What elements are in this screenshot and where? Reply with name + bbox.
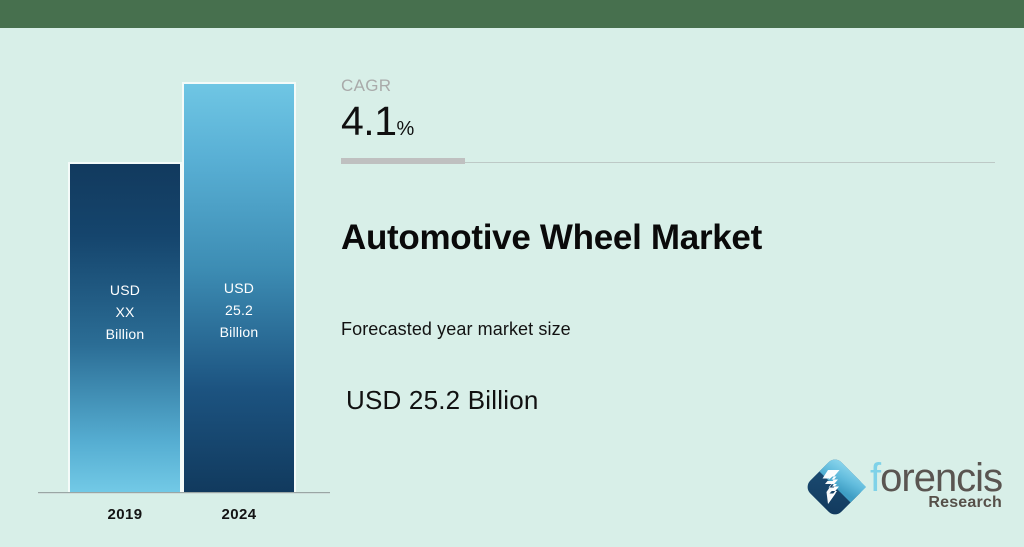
bar-2019-value: XX <box>70 301 180 323</box>
bar-2019: USD XX Billion <box>68 162 182 492</box>
bar-2019-unit: Billion <box>70 323 180 345</box>
brand-logo[interactable]: forencis Research <box>804 452 1004 522</box>
section-divider <box>341 158 995 164</box>
forecast-subtitle: Forecasted year market size <box>341 319 571 340</box>
brand-tagline: Research <box>928 494 1002 512</box>
x-axis-tick-2024: 2024 <box>182 506 296 523</box>
cagr-number: 4.1 <box>341 98 397 144</box>
forecast-market-value: USD 25.2 Billion <box>346 385 539 416</box>
x-axis-tick-2019: 2019 <box>68 506 182 523</box>
brand-name-initial: f <box>870 456 880 500</box>
bar-chart: USD XX Billion USD 25.2 Billion 2019 202… <box>0 28 335 547</box>
cagr-value: 4.1% <box>341 96 414 154</box>
bar-2024-currency: USD <box>184 277 294 299</box>
brand-logo-text: forencis Research <box>870 456 1004 518</box>
bar-2024-label: USD 25.2 Billion <box>184 277 294 343</box>
bar-2024: USD 25.2 Billion <box>182 82 296 492</box>
divider-thick-rule <box>341 158 465 164</box>
bar-2019-label: USD XX Billion <box>70 279 180 345</box>
bar-2024-unit: Billion <box>184 321 294 343</box>
bar-2024-value: 25.2 <box>184 299 294 321</box>
infographic-canvas: USD XX Billion USD 25.2 Billion 2019 202… <box>0 0 1024 547</box>
bar-2019-currency: USD <box>70 279 180 301</box>
cagr-label: CAGR <box>341 76 391 96</box>
x-axis-line <box>38 492 330 494</box>
content-panel: CAGR 4.1% Automotive Wheel Market Foreca… <box>341 28 1024 547</box>
page-title: Automotive Wheel Market <box>341 218 762 258</box>
cagr-percent-symbol: % <box>397 118 415 140</box>
forencis-diamond-icon <box>804 456 866 518</box>
top-accent-band <box>0 0 1024 28</box>
